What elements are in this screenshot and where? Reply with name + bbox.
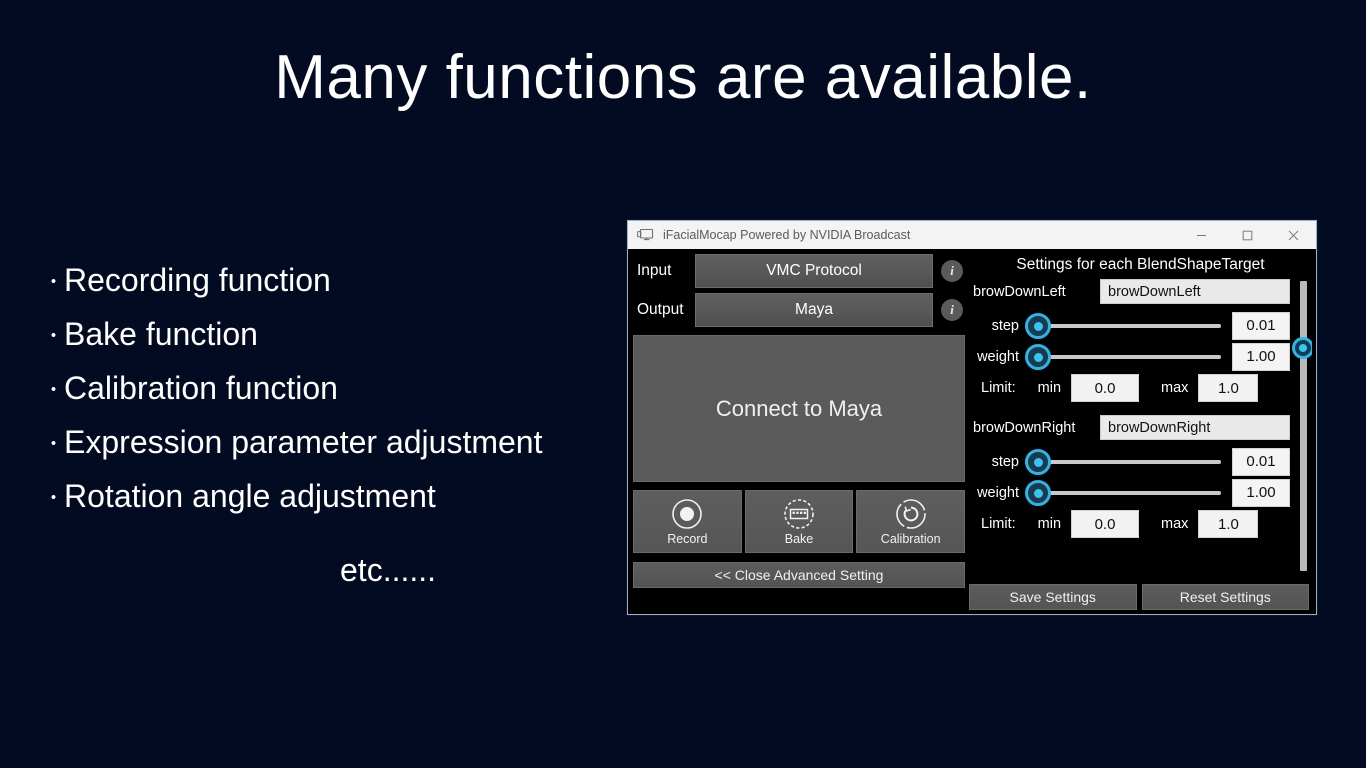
weight-slider[interactable] (1025, 341, 1229, 372)
weight-label: weight (969, 485, 1025, 501)
list-item-label: Recording function (64, 256, 331, 305)
page-title: Many functions are available. (0, 42, 1366, 113)
monitor-icon (637, 228, 654, 243)
limit-row: Limit: min 0.0 max 1.0 (969, 508, 1294, 540)
window-body: Input VMC Protocol i Output Maya i Conne… (628, 249, 1316, 614)
scrollbar-thumb[interactable] (1292, 337, 1312, 359)
input-info-icon[interactable]: i (941, 260, 963, 282)
limit-max-label: max (1161, 516, 1188, 532)
step-slider-track (1039, 324, 1221, 328)
list-item: ・ Expression parameter adjustment (44, 418, 614, 472)
bullet-marker-icon: ・ (44, 366, 63, 415)
blendshape-source-name: browDownRight (969, 420, 1100, 436)
limit-label: Limit: (981, 516, 1016, 532)
maximize-button[interactable] (1224, 221, 1270, 249)
output-label: Output (633, 301, 695, 319)
step-value[interactable]: 0.01 (1232, 448, 1290, 476)
list-item: ・ Rotation angle adjustment (44, 472, 614, 526)
list-item: ・ Calibration function (44, 364, 614, 418)
weight-slider-thumb[interactable] (1025, 344, 1051, 370)
list-item-label: Bake function (64, 310, 258, 359)
settings-panel-title: Settings for each BlendShapeTarget (969, 252, 1312, 279)
limit-min-value[interactable]: 0.0 (1071, 510, 1139, 538)
step-slider-row: step 0.01 (969, 446, 1294, 477)
list-item-label: Rotation angle adjustment (64, 472, 436, 521)
weight-value[interactable]: 1.00 (1232, 343, 1290, 371)
input-protocol-select[interactable]: VMC Protocol (695, 254, 933, 288)
window-controls (1178, 221, 1316, 249)
bake-button-label: Bake (785, 532, 814, 546)
ifacialmocap-window: iFacialMocap Powered by NVIDIA Broadcast (627, 220, 1317, 615)
window-titlebar: iFacialMocap Powered by NVIDIA Broadcast (628, 221, 1316, 249)
connection-panel: Input VMC Protocol i Output Maya i Conne… (633, 252, 965, 610)
limit-min-label: min (1038, 516, 1061, 532)
step-slider-row: step 0.01 (969, 310, 1294, 341)
bullet-marker-icon: ・ (44, 312, 63, 361)
step-slider[interactable] (1025, 310, 1229, 341)
bullet-marker-icon: ・ (44, 258, 63, 307)
limit-max-label: max (1161, 380, 1188, 396)
record-button-label: Record (667, 532, 707, 546)
list-item: ・ Recording function (44, 256, 614, 310)
calibration-button-label: Calibration (881, 532, 941, 546)
scrollbar-track (1300, 281, 1307, 571)
close-button[interactable] (1270, 221, 1316, 249)
window-title: iFacialMocap Powered by NVIDIA Broadcast (663, 228, 1178, 242)
settings-scroll-area: browDownLeft browDownLeft step 0.01 (969, 279, 1312, 575)
weight-slider-track (1039, 355, 1221, 359)
minimize-button[interactable] (1178, 221, 1224, 249)
step-slider-thumb[interactable] (1025, 313, 1051, 339)
record-button[interactable]: Record (633, 490, 742, 553)
weight-slider[interactable] (1025, 477, 1229, 508)
refresh-circle-icon (894, 497, 928, 531)
list-item: ・ Bake function (44, 310, 614, 364)
calibration-button[interactable]: Calibration (856, 490, 965, 553)
minimize-icon (1196, 230, 1207, 241)
step-label: step (969, 454, 1025, 470)
blendshape-target-input[interactable]: browDownLeft (1100, 279, 1290, 304)
save-settings-button[interactable]: Save Settings (969, 584, 1137, 610)
settings-footer: Save Settings Reset Settings (969, 584, 1312, 610)
blendshape-target-input[interactable]: browDownRight (1100, 415, 1290, 440)
weight-slider-row: weight 1.00 (969, 477, 1294, 508)
record-circle-icon (670, 497, 704, 531)
limit-max-value[interactable]: 1.0 (1198, 510, 1258, 538)
output-target-select[interactable]: Maya (695, 293, 933, 327)
connect-to-maya-button[interactable]: Connect to Maya (633, 335, 965, 482)
bullet-marker-icon: ・ (44, 474, 63, 523)
step-label: step (969, 318, 1025, 334)
bullet-marker-icon: ・ (44, 420, 63, 469)
blendshape-list: browDownLeft browDownLeft step 0.01 (969, 279, 1294, 575)
close-icon (1288, 230, 1299, 241)
etc-text: etc...... (340, 552, 436, 589)
close-advanced-setting-button[interactable]: << Close Advanced Setting (633, 562, 965, 588)
limit-min-label: min (1038, 380, 1061, 396)
limit-max-value[interactable]: 1.0 (1198, 374, 1258, 402)
step-slider-thumb[interactable] (1025, 449, 1051, 475)
bake-button[interactable]: Bake (745, 490, 854, 553)
feature-list: ・ Recording function ・ Bake function ・ C… (44, 256, 614, 526)
limit-row: Limit: min 0.0 max 1.0 (969, 372, 1294, 404)
weight-value[interactable]: 1.00 (1232, 479, 1290, 507)
step-slider[interactable] (1025, 446, 1229, 477)
weight-slider-track (1039, 491, 1221, 495)
blendshape-name-row: browDownLeft browDownLeft (969, 279, 1294, 304)
output-row: Output Maya i (633, 291, 965, 328)
step-value[interactable]: 0.01 (1232, 312, 1290, 340)
weight-slider-row: weight 1.00 (969, 341, 1294, 372)
maximize-icon (1242, 230, 1253, 241)
list-item-label: Calibration function (64, 364, 338, 413)
blendshape-name-row: browDownRight browDownRight (969, 415, 1294, 440)
blendshape-row: browDownRight browDownRight step 0.01 (969, 415, 1294, 551)
film-strip-icon (782, 497, 816, 531)
step-slider-track (1039, 460, 1221, 464)
blendshape-settings-panel: Settings for each BlendShapeTarget browD… (969, 252, 1312, 610)
list-item-label: Expression parameter adjustment (64, 418, 542, 467)
blendshape-source-name: browDownLeft (969, 284, 1100, 300)
action-buttons: Record Bake (633, 490, 965, 553)
reset-settings-button[interactable]: Reset Settings (1142, 584, 1310, 610)
input-row: Input VMC Protocol i (633, 252, 965, 289)
input-label: Input (633, 262, 695, 280)
blendshape-row: browDownLeft browDownLeft step 0.01 (969, 279, 1294, 415)
limit-label: Limit: (981, 380, 1016, 396)
weight-slider-thumb[interactable] (1025, 480, 1051, 506)
limit-min-value[interactable]: 0.0 (1071, 374, 1139, 402)
weight-label: weight (969, 349, 1025, 365)
output-info-icon[interactable]: i (941, 299, 963, 321)
settings-scrollbar[interactable] (1296, 279, 1311, 575)
